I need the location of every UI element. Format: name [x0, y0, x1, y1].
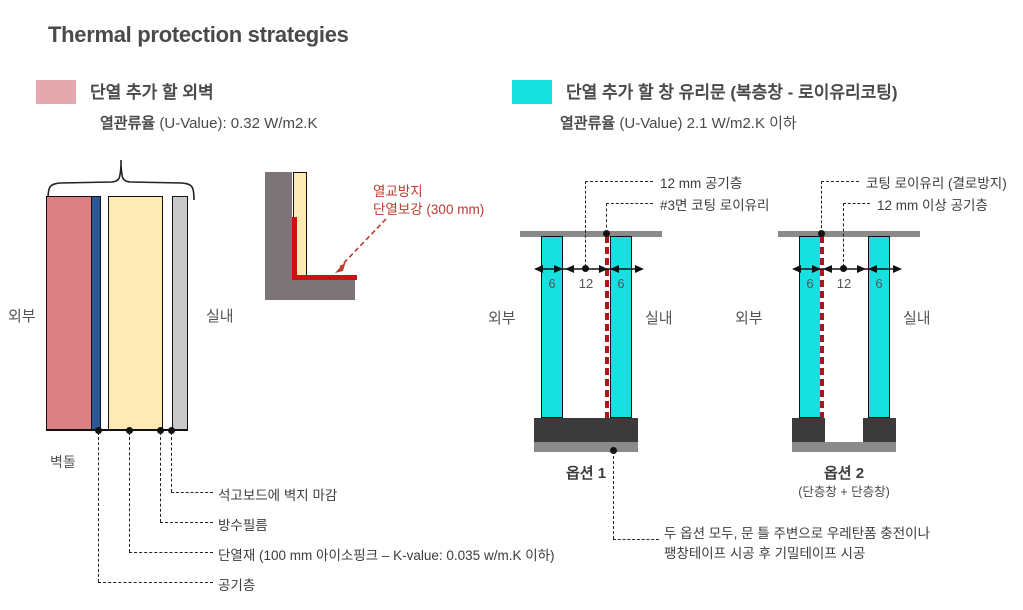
- opt2-dim-air: 12: [824, 276, 864, 291]
- wall-callout-insulation-spell: m.K: [497, 548, 521, 563]
- opt2-outside-label: 외부: [735, 307, 763, 328]
- wall-baseline: [46, 429, 188, 431]
- opt1-dim-outer: 6: [541, 276, 563, 291]
- bottom-note: 두 옵션 모두, 문 틀 주변으로 우레탄폼 충전이나 팽창테이프 시공 후 기…: [664, 524, 930, 563]
- legend-wall-swatch: [36, 80, 76, 104]
- wall-leader-line-insulation: [129, 432, 130, 552]
- legend-window-value: 열관류율 (U-Value) 2.1 W/m2.K 이하: [560, 112, 898, 133]
- legend-wall-value-bold: 열관류율: [100, 115, 155, 132]
- legend-wall-value-rest: (U-Value): 0.32 W/m2.K: [155, 115, 317, 132]
- wall-leader-elbow-airgap: [98, 582, 213, 583]
- opt1-frame: [534, 418, 638, 442]
- opt1-airgap-leader-v: [585, 181, 586, 267]
- opt2-airgap-leader-v: [843, 203, 844, 267]
- opt2-inside-label: 실내: [903, 307, 931, 328]
- wall-leader-elbow-insulation: [129, 552, 213, 553]
- wall-layer-air-gap: [101, 196, 108, 430]
- opt1-coating-leader-h: [606, 203, 653, 204]
- wall-layer-insulation: [108, 196, 163, 430]
- opt1-callout-airgap: 12 mm 공기층: [660, 172, 742, 192]
- wall-callout-insulation-pre: 단열재 (100 mm 아이소핑크 – K-value: 0.035 w/: [218, 548, 497, 563]
- bottom-note-line2: 팽창테이프 시공 후 기밀테이프 시공: [664, 544, 930, 564]
- opt2-dimension-arrows: [792, 261, 902, 277]
- wall-outside-label: 외부: [8, 305, 36, 326]
- opt2-frame-inner: [863, 418, 896, 442]
- wall-layer-brick: [46, 196, 92, 430]
- wall-layer-gypsum: [172, 196, 188, 430]
- opt1-coating-leader-v: [606, 203, 607, 233]
- legend-window-value-bold: 열관류율: [560, 115, 615, 132]
- bottom-note-leader-h: [613, 539, 659, 540]
- bottom-note-line1: 두 옵션 모두, 문 틀 주변으로 우레탄폼 충전이나: [664, 524, 930, 544]
- corner-reinforce-vertical: [292, 217, 297, 280]
- wall-callout-waterproof: 방수필름: [218, 514, 268, 534]
- opt2-dim-inner: 6: [868, 276, 890, 291]
- opt1-dim-air: 12: [566, 276, 606, 291]
- opt1-callout-coating: #3면 코팅 로이유리: [660, 194, 769, 214]
- opt2-caption: 옵션 2: [818, 462, 870, 483]
- opt2-sub-caption: (단층창 + 단층창): [790, 481, 898, 500]
- opt2-sill: [792, 442, 896, 452]
- wall-leader-elbow-waterproof: [160, 522, 213, 523]
- bottom-note-leader-v: [613, 451, 614, 539]
- wall-section: [46, 196, 188, 430]
- corner-callout-arrow: [330, 215, 390, 277]
- opt2-coating-leader-v: [821, 181, 822, 233]
- wall-callout-airgap: 공기층: [218, 574, 255, 594]
- wall-leader-elbow-gypsum: [171, 492, 213, 493]
- wall-leader-line-airgap: [98, 432, 99, 582]
- wall-layer-cavity: [163, 196, 172, 430]
- opt1-sill: [534, 442, 638, 452]
- wall-inside-label: 실내: [206, 305, 234, 326]
- opt1-inside-label: 실내: [645, 307, 673, 328]
- corner-callout-line1: 열교방지: [373, 183, 484, 201]
- wall-callout-insulation-post: 이하): [521, 548, 554, 563]
- opt1-outside-label: 외부: [488, 307, 516, 328]
- opt2-dim-outer: 6: [799, 276, 821, 291]
- opt2-callout-coating: 코팅 로이유리 (결로방지): [866, 172, 1007, 192]
- wall-leader-line-gypsum: [171, 432, 172, 492]
- wall-leader-line-waterproof: [160, 432, 161, 522]
- legend-wall-value: 열관류율 (U-Value): 0.32 W/m2.K: [100, 112, 317, 133]
- legend-window-swatch: [512, 80, 552, 104]
- legend-wall: 단열 추가 할 외벽 열관류율 (U-Value): 0.32 W/m2.K: [36, 78, 317, 133]
- corner-callout: 열교방지 단열보강 (300 mm): [373, 183, 484, 219]
- wall-callout-insulation: 단열재 (100 mm 아이소핑크 – K-value: 0.035 w/m.K…: [218, 544, 555, 564]
- opt2-airgap-leader-h: [843, 203, 870, 204]
- legend-wall-title: 단열 추가 할 외벽: [90, 78, 317, 103]
- legend-window-title: 단열 추가 할 창 유리문 (복층창 - 로이유리코팅): [566, 78, 898, 103]
- opt1-dimension-arrows: [534, 261, 644, 277]
- opt2-coating-leader-h: [821, 181, 859, 182]
- wall-layer-air-barrier: [92, 196, 101, 430]
- page-title: Thermal protection strategies: [48, 22, 349, 48]
- wall-callout-gypsum: 석고보드에 벽지 마감: [218, 484, 337, 504]
- legend-window-value-rest: (U-Value) 2.1 W/m2.K 이하: [615, 115, 797, 132]
- opt2-frame-outer: [792, 418, 825, 442]
- legend-window: 단열 추가 할 창 유리문 (복층창 - 로이유리코팅) 열관류율 (U-Val…: [512, 78, 898, 133]
- opt1-caption: 옵션 1: [560, 462, 612, 483]
- opt2-callout-airgap: 12 mm 이상 공기층: [877, 194, 988, 214]
- wall-brick-label: 벽돌: [50, 452, 76, 472]
- opt1-dim-inner: 6: [610, 276, 632, 291]
- opt1-airgap-leader-h: [585, 181, 653, 182]
